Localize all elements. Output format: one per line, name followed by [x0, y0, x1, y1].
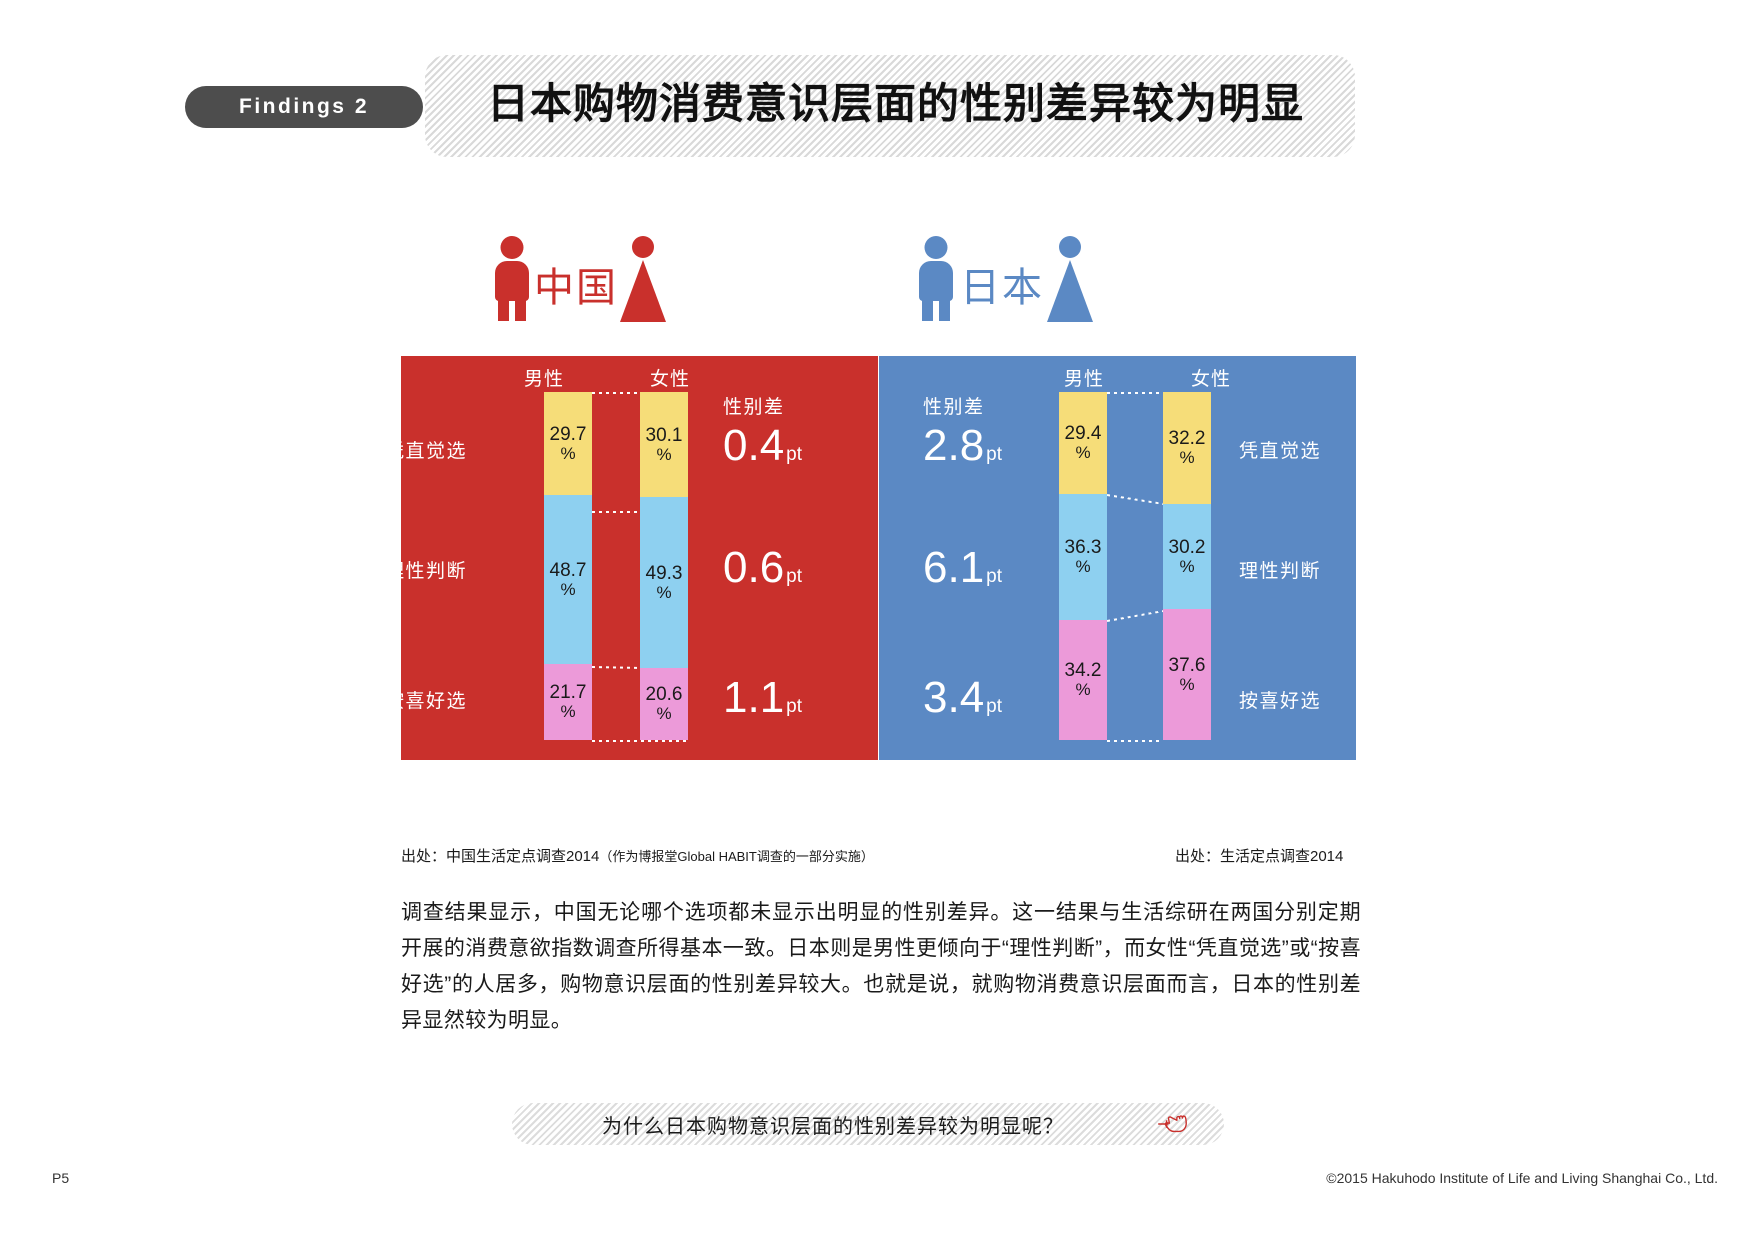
china-panel: 男性 女性 凭直觉选 理性判断 按喜好选 29.7 % 48.7 % 21.7 …: [401, 356, 878, 760]
segment-value: 30.2: [1169, 538, 1206, 558]
japan-female-bar: 32.2 % 30.2 % 37.6 %: [1163, 392, 1211, 740]
male-leg-left-icon: [922, 299, 933, 321]
unit-pt: pt: [986, 444, 1002, 465]
copyright: ©2015 Hakuhodo Institute of Life and Liv…: [1326, 1170, 1718, 1186]
japan-diff-2: 6.1pt: [923, 546, 1002, 599]
source-china-main: 出处：中国生活定点调查2014: [401, 848, 599, 865]
male-leg-right-icon: [515, 299, 526, 321]
percent-sign: %: [560, 581, 575, 599]
japan-female-pictogram: [1047, 236, 1093, 320]
japan-male-header: 男性: [1039, 364, 1129, 391]
segment-intuition: 32.2 %: [1163, 392, 1211, 504]
segment-value: 29.7: [550, 425, 587, 445]
row-label-rational: 理性判断: [385, 556, 467, 583]
row-label-rational: 理性判断: [1239, 556, 1321, 583]
segment-value: 48.7: [550, 561, 587, 581]
percent-sign: %: [560, 445, 575, 463]
japan-diff-3-value: 3.4: [923, 673, 984, 722]
row-label-preference: 按喜好选: [385, 686, 467, 713]
segment-value: 37.6: [1169, 656, 1206, 676]
percent-sign: %: [1179, 558, 1194, 576]
japan-diff-1-value: 2.8: [923, 421, 984, 470]
unit-pt: pt: [786, 566, 802, 587]
segment-value: 36.3: [1065, 538, 1102, 558]
segment-value: 32.2: [1169, 429, 1206, 449]
male-head-icon: [925, 236, 948, 259]
connector-bottom: [1107, 740, 1163, 742]
japan-male-pictogram: [916, 236, 956, 320]
row-label-intuition: 凭直觉选: [385, 436, 467, 463]
segment-intuition: 29.4 %: [1059, 392, 1107, 494]
findings-badge: Findings 2: [185, 86, 423, 128]
percent-sign: %: [1075, 558, 1090, 576]
page-root: Findings 2 日本购物消费意识层面的性别差异较为明显 中国 日本 男性 …: [0, 0, 1754, 1240]
japan-female-header: 女性: [1166, 364, 1256, 391]
female-head-icon: [1059, 236, 1081, 258]
japan-diff-2-value: 6.1: [923, 543, 984, 592]
segment-value: 34.2: [1065, 661, 1102, 681]
source-japan: 出处：生活定点调查2014: [1175, 845, 1343, 866]
percent-sign: %: [656, 705, 671, 723]
china-female-bar: 30.1 % 49.3 % 20.6 %: [640, 392, 688, 740]
percent-sign: %: [1075, 444, 1090, 462]
unit-pt: pt: [786, 696, 802, 717]
percent-sign: %: [1179, 676, 1194, 694]
male-head-icon: [501, 236, 524, 259]
row-label-intuition: 凭直觉选: [1239, 436, 1321, 463]
segment-value: 29.4: [1065, 424, 1102, 444]
male-leg-right-icon: [939, 299, 950, 321]
segment-preference: 21.7 %: [544, 664, 592, 740]
china-diff-3-value: 1.1: [723, 673, 784, 722]
connector-mid-1: [1107, 494, 1165, 505]
percent-sign: %: [1179, 449, 1194, 467]
segment-preference: 20.6 %: [640, 668, 688, 740]
segment-value: 30.1: [646, 426, 683, 446]
china-diff-1-value: 0.4: [723, 421, 784, 470]
male-body-icon: [495, 261, 529, 301]
country-name-china: 中国: [534, 255, 618, 313]
page-number: P5: [52, 1170, 69, 1186]
china-diff-2: 0.6pt: [723, 546, 802, 599]
percent-sign: %: [656, 584, 671, 602]
segment-intuition: 29.7 %: [544, 392, 592, 495]
pointing-hand-icon: [1156, 1110, 1194, 1138]
segment-value: 20.6: [646, 685, 683, 705]
page-title: 日本购物消费意识层面的性别差异较为明显: [487, 72, 1304, 136]
china-diff-title: 性别差: [723, 392, 785, 419]
china-diff-2-value: 0.6: [723, 543, 784, 592]
findings-badge-label: Findings 2: [239, 95, 369, 119]
unit-pt: pt: [786, 444, 802, 465]
segment-rational: 36.3 %: [1059, 494, 1107, 620]
connector-top: [1107, 392, 1163, 394]
china-female-header: 女性: [625, 364, 715, 391]
japan-male-bar: 29.4 % 36.3 % 34.2 %: [1059, 392, 1107, 740]
segment-value: 21.7: [550, 683, 587, 703]
percent-sign: %: [1075, 681, 1090, 699]
female-head-icon: [632, 236, 654, 258]
japan-panel: 男性 女性 性别差 2.8pt 6.1pt 3.4pt 29.4 % 36.3 …: [879, 356, 1356, 760]
segment-preference: 34.2 %: [1059, 620, 1107, 740]
segment-rational: 30.2 %: [1163, 504, 1211, 609]
country-name-japan: 日本: [960, 255, 1044, 313]
unit-pt: pt: [986, 566, 1002, 587]
percent-sign: %: [656, 446, 671, 464]
row-label-preference: 按喜好选: [1239, 686, 1321, 713]
percent-sign: %: [560, 703, 575, 721]
japan-diff-title: 性别差: [923, 392, 985, 419]
china-diff-3: 1.1pt: [723, 676, 802, 729]
question-banner-label: 为什么日本购物意识层面的性别差异较为明显呢？: [602, 1110, 1064, 1139]
china-diff-1: 0.4pt: [723, 424, 802, 477]
source-china-note: （作为博报堂Global HABIT调查的一部分实施）: [599, 849, 873, 864]
china-male-header: 男性: [499, 364, 589, 391]
female-leg-icon: [638, 299, 648, 321]
female-leg-icon: [1065, 299, 1075, 321]
segment-intuition: 30.1 %: [640, 392, 688, 497]
male-leg-left-icon: [498, 299, 509, 321]
china-male-bar: 29.7 % 48.7 % 21.7 %: [544, 392, 592, 740]
segment-rational: 48.7 %: [544, 495, 592, 664]
body-paragraph: 调查结果显示，中国无论哪个选项都未显示出明显的性别差异。这一结果与生活综研在两国…: [401, 895, 1361, 1039]
japan-diff-1: 2.8pt: [923, 424, 1002, 477]
japan-diff-3: 3.4pt: [923, 676, 1002, 729]
question-banner: 为什么日本购物意识层面的性别差异较为明显呢？: [512, 1103, 1224, 1145]
segment-rational: 49.3 %: [640, 497, 688, 668]
unit-pt: pt: [986, 696, 1002, 717]
segment-value: 49.3: [646, 564, 683, 584]
china-male-pictogram: [492, 236, 532, 320]
connector-bottom: [592, 740, 688, 742]
connector-mid-2: [1107, 610, 1164, 622]
segment-preference: 37.6 %: [1163, 609, 1211, 740]
source-china: 出处：中国生活定点调查2014（作为博报堂Global HABIT调查的一部分实…: [401, 845, 874, 866]
china-female-pictogram: [620, 236, 666, 320]
male-body-icon: [919, 261, 953, 301]
